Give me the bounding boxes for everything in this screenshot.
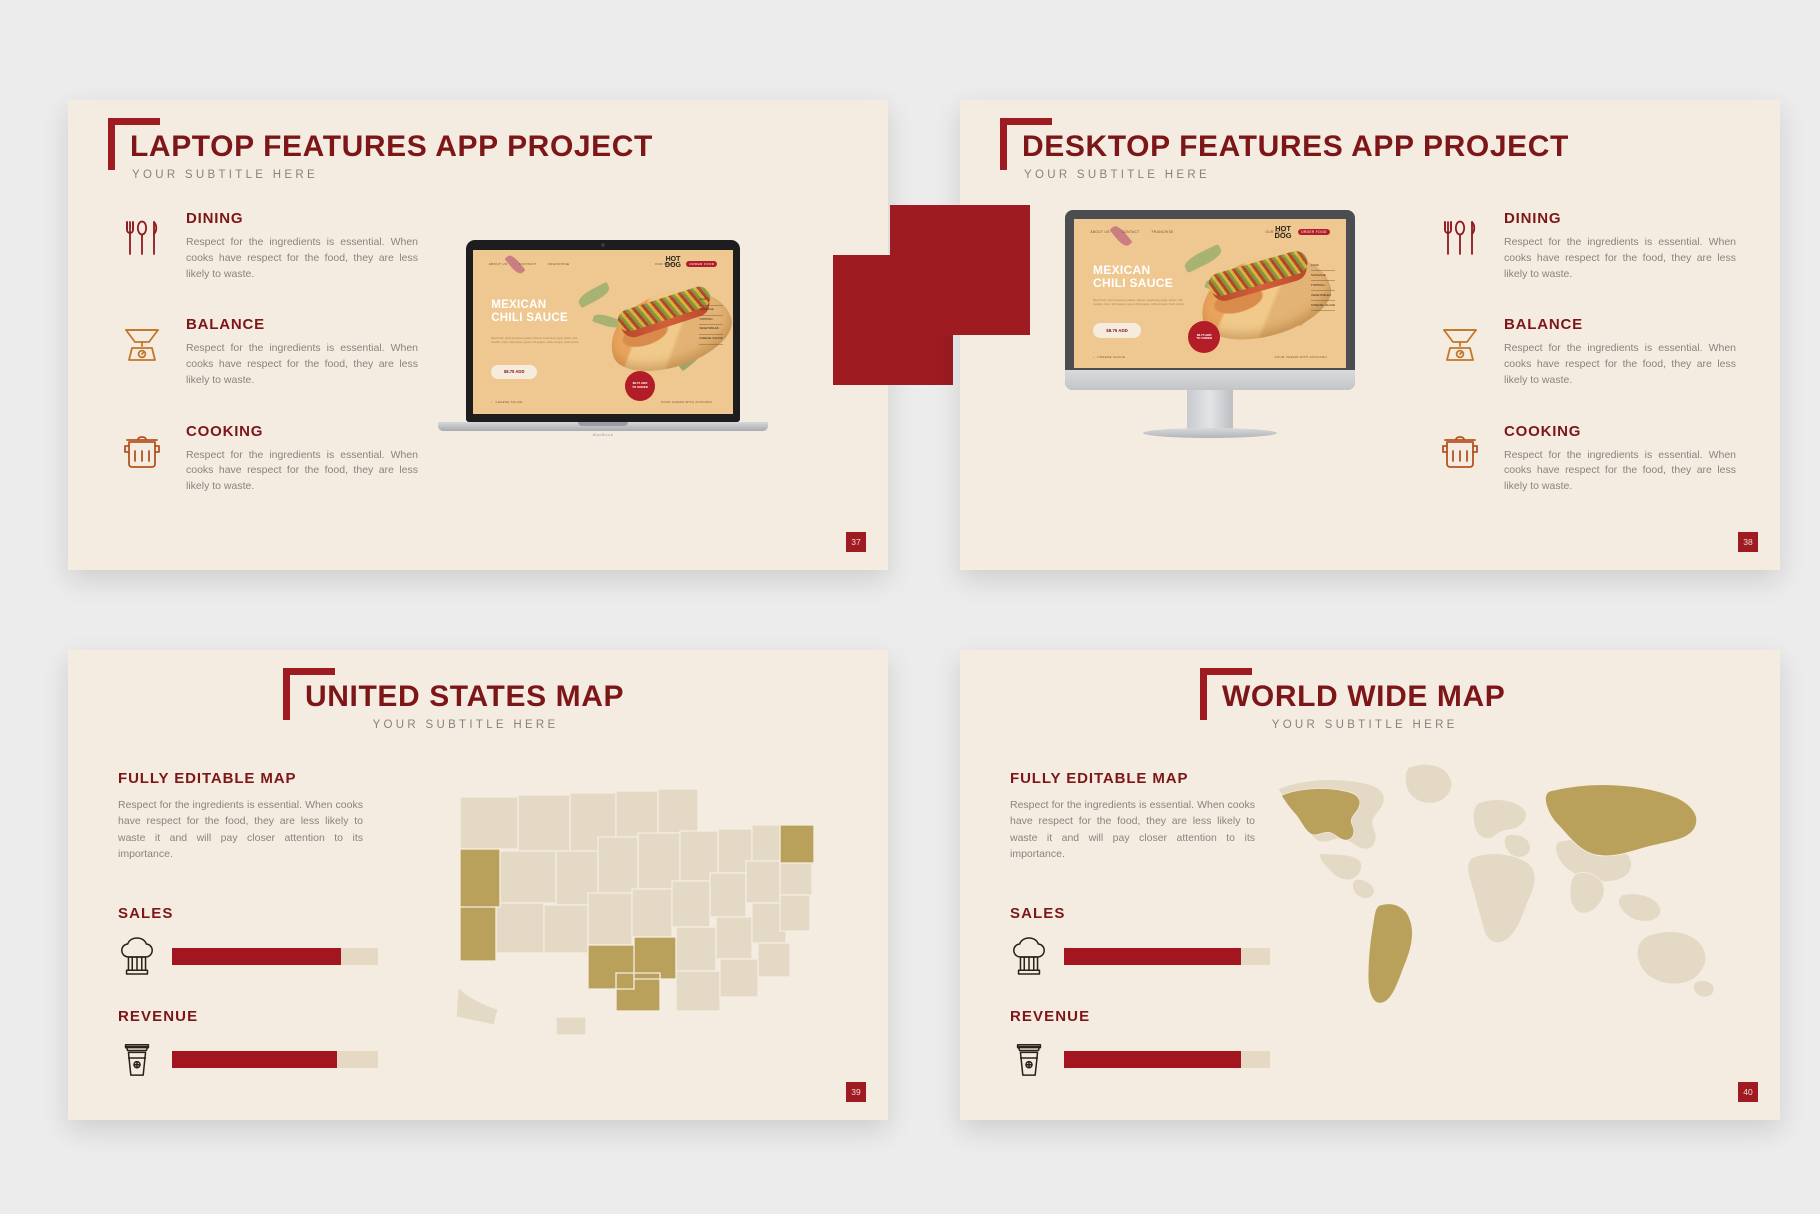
feature-title: DINING — [1504, 210, 1736, 227]
stat-label: SALES — [118, 905, 378, 922]
corner-bracket-icon — [283, 668, 335, 720]
feature-title: DINING — [186, 210, 418, 227]
feature-title: COOKING — [1504, 423, 1736, 440]
sales-progress-fill — [172, 948, 341, 965]
kitchen-scale-icon — [1436, 320, 1484, 368]
footer-left-label: ‹CHEESE SAUCE — [491, 400, 522, 404]
ingredient-list: LOAF SAUSAGE TOPPING VEGETABLES CHEESE S… — [1311, 261, 1335, 311]
feature-title: BALANCE — [1504, 316, 1736, 333]
list-item: CHEESE SAUCE — [699, 335, 723, 345]
feature-title: COOKING — [186, 423, 418, 440]
feature-text: Respect for the ingredients is essential… — [186, 341, 418, 388]
hero-headline: MEXICAN CHILI SAUCE — [491, 299, 568, 324]
page-title: DESKTOP FEATURES APP PROJECT — [1022, 118, 1569, 162]
page-subtitle: YOUR SUBTITLE HERE — [1224, 719, 1505, 731]
nav-item[interactable]: FRANCHISE — [1152, 230, 1174, 234]
revenue-progress-bar[interactable] — [172, 1051, 378, 1068]
nav-cta-button[interactable]: ORDER FOOD — [1298, 229, 1330, 235]
feature-text: Respect for the ingredients is essential… — [186, 448, 418, 495]
slide-4-title-block: WORLD WIDE MAP YOUR SUBTITLE HERE — [1200, 668, 1505, 731]
feature-text: Respect for the ingredients is essential… — [1504, 341, 1736, 388]
macbook-laptop-mockup[interactable]: ABOUT US CONTACT FRANCHISE OUR MENU ORDE… — [438, 240, 768, 480]
feature-item-balance[interactable]: BALANCE Respect for the ingredients is e… — [118, 316, 418, 388]
monitor-stand-base — [1143, 428, 1277, 438]
list-item: VEGETABLES — [1311, 291, 1335, 301]
feature-list: DINING Respect for the ingredients is es… — [1436, 210, 1736, 529]
page-title: WORLD WIDE MAP — [1222, 668, 1505, 712]
coffee-cup-icon — [118, 1037, 156, 1081]
map-description: Respect for the ingredients is essential… — [118, 797, 363, 862]
corner-bracket-icon — [1000, 118, 1052, 170]
feature-item-cooking[interactable]: COOKING Respect for the ingredients is e… — [1436, 423, 1736, 495]
website-screen: ABOUT US CONTACT FRANCHISE OUR MENU ORDE… — [473, 250, 733, 414]
feature-item-cooking[interactable]: COOKING Respect for the ingredients is e… — [118, 423, 418, 495]
kitchen-scale-icon — [118, 320, 166, 368]
nav-item[interactable]: FRANCHISE — [548, 262, 569, 266]
stat-revenue: REVENUE — [118, 1008, 378, 1081]
feature-text: Respect for the ingredients is essential… — [186, 235, 418, 282]
world-map-graphic[interactable] — [1260, 745, 1760, 1045]
page-number-badge: 38 — [1738, 532, 1758, 552]
list-item: CHEESE SAUCE — [1311, 301, 1335, 311]
monitor-chin — [1065, 370, 1355, 390]
price-pill: $8.75 ADD — [491, 365, 537, 379]
map-description-block: FULLY EDITABLE MAP Respect for the ingre… — [118, 770, 378, 862]
nav-item[interactable]: ABOUT US — [1090, 230, 1109, 234]
list-item: LOAF — [699, 296, 723, 306]
stat-label: REVENUE — [118, 1008, 378, 1025]
page-number-badge: 37 — [846, 532, 866, 552]
nav-item[interactable]: CONTACT — [1122, 230, 1140, 234]
nav-cta-button[interactable]: ORDER FOOD — [686, 261, 717, 267]
site-nav[interactable]: ABOUT US CONTACT FRANCHISE OUR MENU ORDE… — [1074, 229, 1346, 235]
slide-world-wide-map[interactable]: WORLD WIDE MAP YOUR SUBTITLE HERE FULLY … — [960, 650, 1780, 1120]
sales-progress-bar[interactable] — [1064, 948, 1270, 965]
list-item: TOPPING — [1311, 281, 1335, 291]
map-description-block: FULLY EDITABLE MAP Respect for the ingre… — [1010, 770, 1270, 862]
site-logo: HOT DOG — [665, 257, 681, 270]
feature-item-dining[interactable]: DINING Respect for the ingredients is es… — [1436, 210, 1736, 282]
united-states-map-graphic[interactable] — [438, 755, 848, 1055]
revenue-progress-bar[interactable] — [1064, 1051, 1270, 1068]
site-nav[interactable]: ABOUT US CONTACT FRANCHISE OUR MENU ORDE… — [473, 261, 733, 267]
feature-text: Respect for the ingredients is essential… — [1504, 235, 1736, 282]
page-title: UNITED STATES MAP — [305, 668, 624, 712]
monitor-stand-neck — [1187, 390, 1233, 430]
presentation-mockup-board: LAPTOP FEATURES APP PROJECT YOUR SUBTITL… — [0, 0, 1820, 1214]
list-item: TOPPING — [699, 316, 723, 326]
slide-desktop-features[interactable]: DESKTOP FEATURES APP PROJECT YOUR SUBTIT… — [960, 100, 1780, 570]
cooking-pot-icon — [1436, 427, 1484, 475]
stat-label: SALES — [1010, 905, 1270, 922]
feature-text: Respect for the ingredients is essential… — [1504, 448, 1736, 495]
laptop-notch — [578, 422, 628, 426]
page-number-badge: 40 — [1738, 1082, 1758, 1102]
page-number-badge: 39 — [846, 1082, 866, 1102]
cooking-pot-icon — [118, 427, 166, 475]
feature-item-balance[interactable]: BALANCE Respect for the ingredients is e… — [1436, 316, 1736, 388]
stats-block: SALES REVENUE — [1010, 905, 1270, 1111]
hero-paragraph: Beef broth, dried tomatoes pasted. Flavo… — [491, 337, 579, 345]
corner-bracket-icon — [1200, 668, 1252, 720]
page-subtitle: YOUR SUBTITLE HERE — [1024, 169, 1569, 181]
footer-right-label: SOUR CREAM WITH AVOCADO — [661, 400, 712, 404]
map-description: Respect for the ingredients is essential… — [1010, 797, 1255, 862]
nav-item[interactable]: ABOUT US — [489, 262, 508, 266]
revenue-progress-fill — [1064, 1051, 1241, 1068]
website-screen: ABOUT US CONTACT FRANCHISE OUR MENU ORDE… — [1074, 219, 1346, 368]
webcam-icon — [601, 243, 605, 247]
cutlery-icon — [1436, 214, 1484, 262]
imac-desktop-mockup[interactable]: ABOUT US CONTACT FRANCHISE OUR MENU ORDE… — [1065, 210, 1355, 460]
feature-list: DINING Respect for the ingredients is es… — [118, 210, 418, 529]
price-pill: $8.75 ADD — [1093, 323, 1141, 338]
map-heading: FULLY EDITABLE MAP — [1010, 770, 1270, 787]
stats-block: SALES REVENUE — [118, 905, 378, 1111]
slide-laptop-features[interactable]: LAPTOP FEATURES APP PROJECT YOUR SUBTITL… — [68, 100, 888, 570]
list-item: VEGETABLES — [699, 325, 723, 335]
slide-united-states-map[interactable]: UNITED STATES MAP YOUR SUBTITLE HERE FUL… — [68, 650, 888, 1120]
stat-label: REVENUE — [1010, 1008, 1270, 1025]
map-heading: FULLY EDITABLE MAP — [118, 770, 378, 787]
slide-2-title-block: DESKTOP FEATURES APP PROJECT YOUR SUBTIT… — [1000, 118, 1569, 181]
chef-hat-icon — [118, 934, 156, 978]
revenue-progress-fill — [172, 1051, 337, 1068]
sales-progress-fill — [1064, 948, 1241, 965]
list-item: SAUSAGE — [699, 306, 723, 316]
page-subtitle: YOUR SUBTITLE HERE — [132, 169, 653, 181]
order-badge[interactable]: $8.75 ADD TO ORDER — [1188, 321, 1220, 353]
slide-1-title-block: LAPTOP FEATURES APP PROJECT YOUR SUBTITL… — [108, 118, 653, 181]
stat-sales: SALES — [118, 905, 378, 978]
footer-left-label: ‹CHEESE SAUCE — [1093, 355, 1125, 359]
site-logo: HOT DOG — [1275, 225, 1292, 239]
order-badge[interactable]: $8.75 ADD TO ORDER — [625, 371, 655, 401]
cutlery-icon — [118, 214, 166, 262]
feature-title: BALANCE — [186, 316, 418, 333]
hero-paragraph: Beef broth, dried tomatoes pasted. Flavo… — [1093, 298, 1185, 306]
page-title: LAPTOP FEATURES APP PROJECT — [130, 118, 653, 162]
stat-sales: SALES — [1010, 905, 1270, 978]
feature-item-dining[interactable]: DINING Respect for the ingredients is es… — [118, 210, 418, 282]
accent-rectangle — [890, 205, 1030, 335]
chef-hat-icon — [1010, 934, 1048, 978]
hero-headline: MEXICAN CHILI SAUCE — [1093, 264, 1173, 290]
footer-right-label: SOUR CREAM WITH AVOCADO — [1274, 355, 1327, 359]
corner-bracket-icon — [108, 118, 160, 170]
stat-revenue: REVENUE — [1010, 1008, 1270, 1081]
page-subtitle: YOUR SUBTITLE HERE — [307, 719, 624, 731]
ingredient-list: LOAF SAUSAGE TOPPING VEGETABLES CHEESE S… — [699, 296, 723, 345]
list-item: LOAF — [1311, 261, 1335, 271]
nav-item[interactable]: CONTACT — [519, 262, 537, 266]
slide-3-title-block: UNITED STATES MAP YOUR SUBTITLE HERE — [283, 668, 624, 731]
list-item: SAUSAGE — [1311, 271, 1335, 281]
device-brand-label: MacBook — [558, 432, 648, 439]
sales-progress-bar[interactable] — [172, 948, 378, 965]
coffee-cup-icon — [1010, 1037, 1048, 1081]
